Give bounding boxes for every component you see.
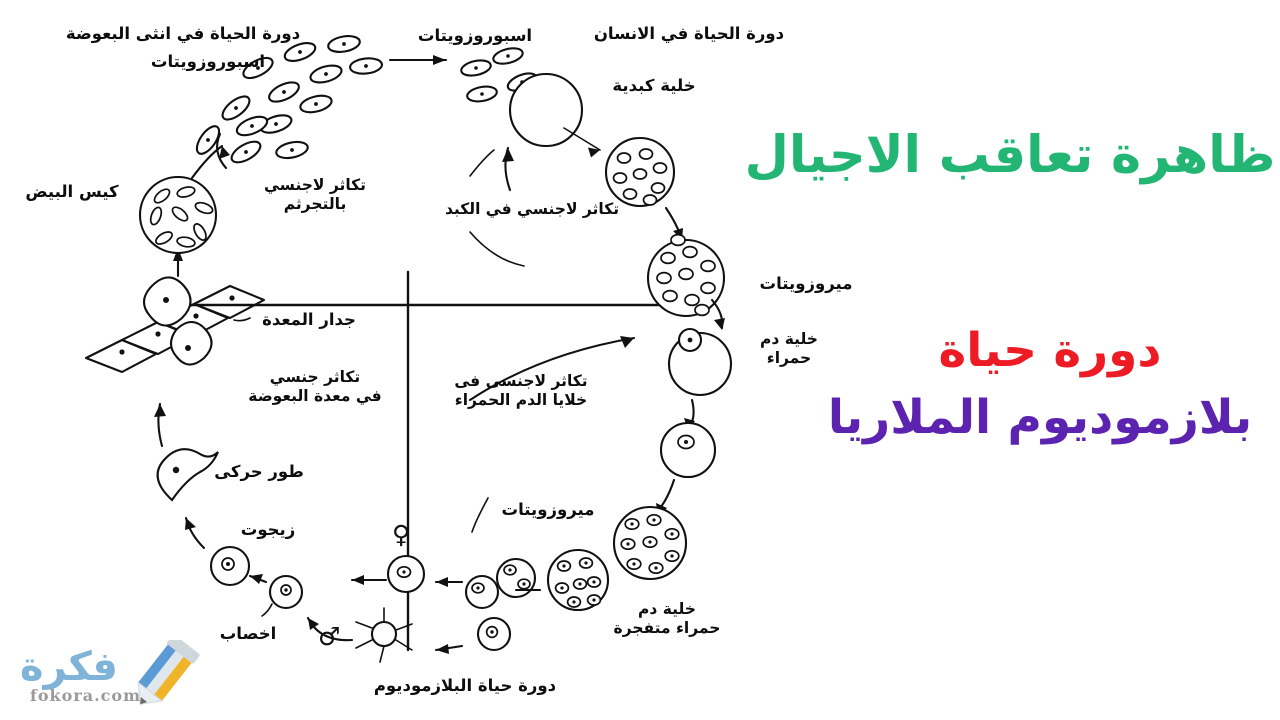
stomach-wall-shape (86, 277, 264, 372)
label-zygote: زيجوت (222, 520, 314, 540)
pencil-icon (116, 640, 202, 714)
headline-plasmodium-malaria: بلازموديوم الملاريا (800, 392, 1280, 444)
diagram-caption: دورة حياة البلازموديوم (300, 676, 630, 696)
asexual-liver-leader (470, 232, 524, 266)
blood-schizont-shape (614, 507, 686, 579)
fertilization-shape (262, 576, 302, 616)
label-burst-red-blood-cell: خلية دم حمراء متفجرة (592, 600, 742, 638)
liver-cell-shape (510, 74, 582, 146)
label-liver-cell: خلية كبدية (584, 76, 724, 96)
liver-cell-leader (564, 128, 600, 150)
liver-schizont-shape (606, 138, 674, 206)
free-merozoites-group (352, 556, 540, 608)
arrow-human-recycle (502, 148, 514, 190)
label-oocyst: كيس البيض (12, 182, 132, 202)
label-life-cycle-in-female-mosquito: دورة الحياة في انثى البعوضة (52, 24, 314, 44)
label-asexual-sporogony: تكاثر لاجنسي بالتجرثم (240, 176, 390, 214)
arrow-ookinete-to-stomach (154, 404, 166, 446)
arrow-zygote-to-ookinete (185, 518, 204, 548)
label-motile-stage: طور حركى (198, 462, 320, 482)
oocyst-shape (140, 177, 216, 253)
logo-brand-arabic: فكرة (20, 644, 118, 690)
label-sporozoites-mosquito: اسبوروزويتات (98, 52, 318, 72)
label-asexual-reproduction-liver: تكاثر لاجنسي في الكبد (442, 200, 622, 219)
arrow-sporozoites-to-human (390, 55, 446, 65)
label-sexual-reproduction-stomach: تكاثر جنسي في معدة البعوضة (240, 368, 390, 406)
label-merozoites-upper: ميروزويتات (742, 274, 870, 294)
headline-life-cycle: دورة حياة (820, 325, 1280, 377)
headline-alternation-of-generations: ظاهرة تعاقب الاجيال (740, 128, 1280, 184)
trophozoite-shape (661, 423, 715, 477)
red-blood-cell-shape (669, 329, 731, 395)
diagram-canvas: ♀ ♂ دورة الحياة في انثى البعوضة اسبوروزو… (0, 0, 1280, 720)
label-merozoites-lower: ميروزويتات (484, 500, 612, 520)
male-symbol-icon: ♂ (318, 624, 340, 649)
label-asexual-reproduction-rbc: تكاثر لاجنسى فى خلايا الدم الحمراء (438, 372, 604, 410)
zygote-shape (211, 547, 249, 585)
asexual-liver-leader-2 (470, 150, 494, 176)
label-stomach-wall: جدار المعدة (244, 310, 374, 330)
label-life-cycle-in-human: دورة الحياة في الانسان (578, 24, 800, 44)
label-sporozoites-human: اسبوروزويتات (390, 26, 560, 46)
site-watermark-logo: فكرة fokora.com (8, 636, 204, 714)
arrow-to-zygote (250, 574, 266, 584)
female-symbol-icon: ♀ (392, 522, 410, 547)
label-fertilization: اخصاب (198, 624, 298, 644)
liver-schizont-large-shape (648, 235, 724, 316)
